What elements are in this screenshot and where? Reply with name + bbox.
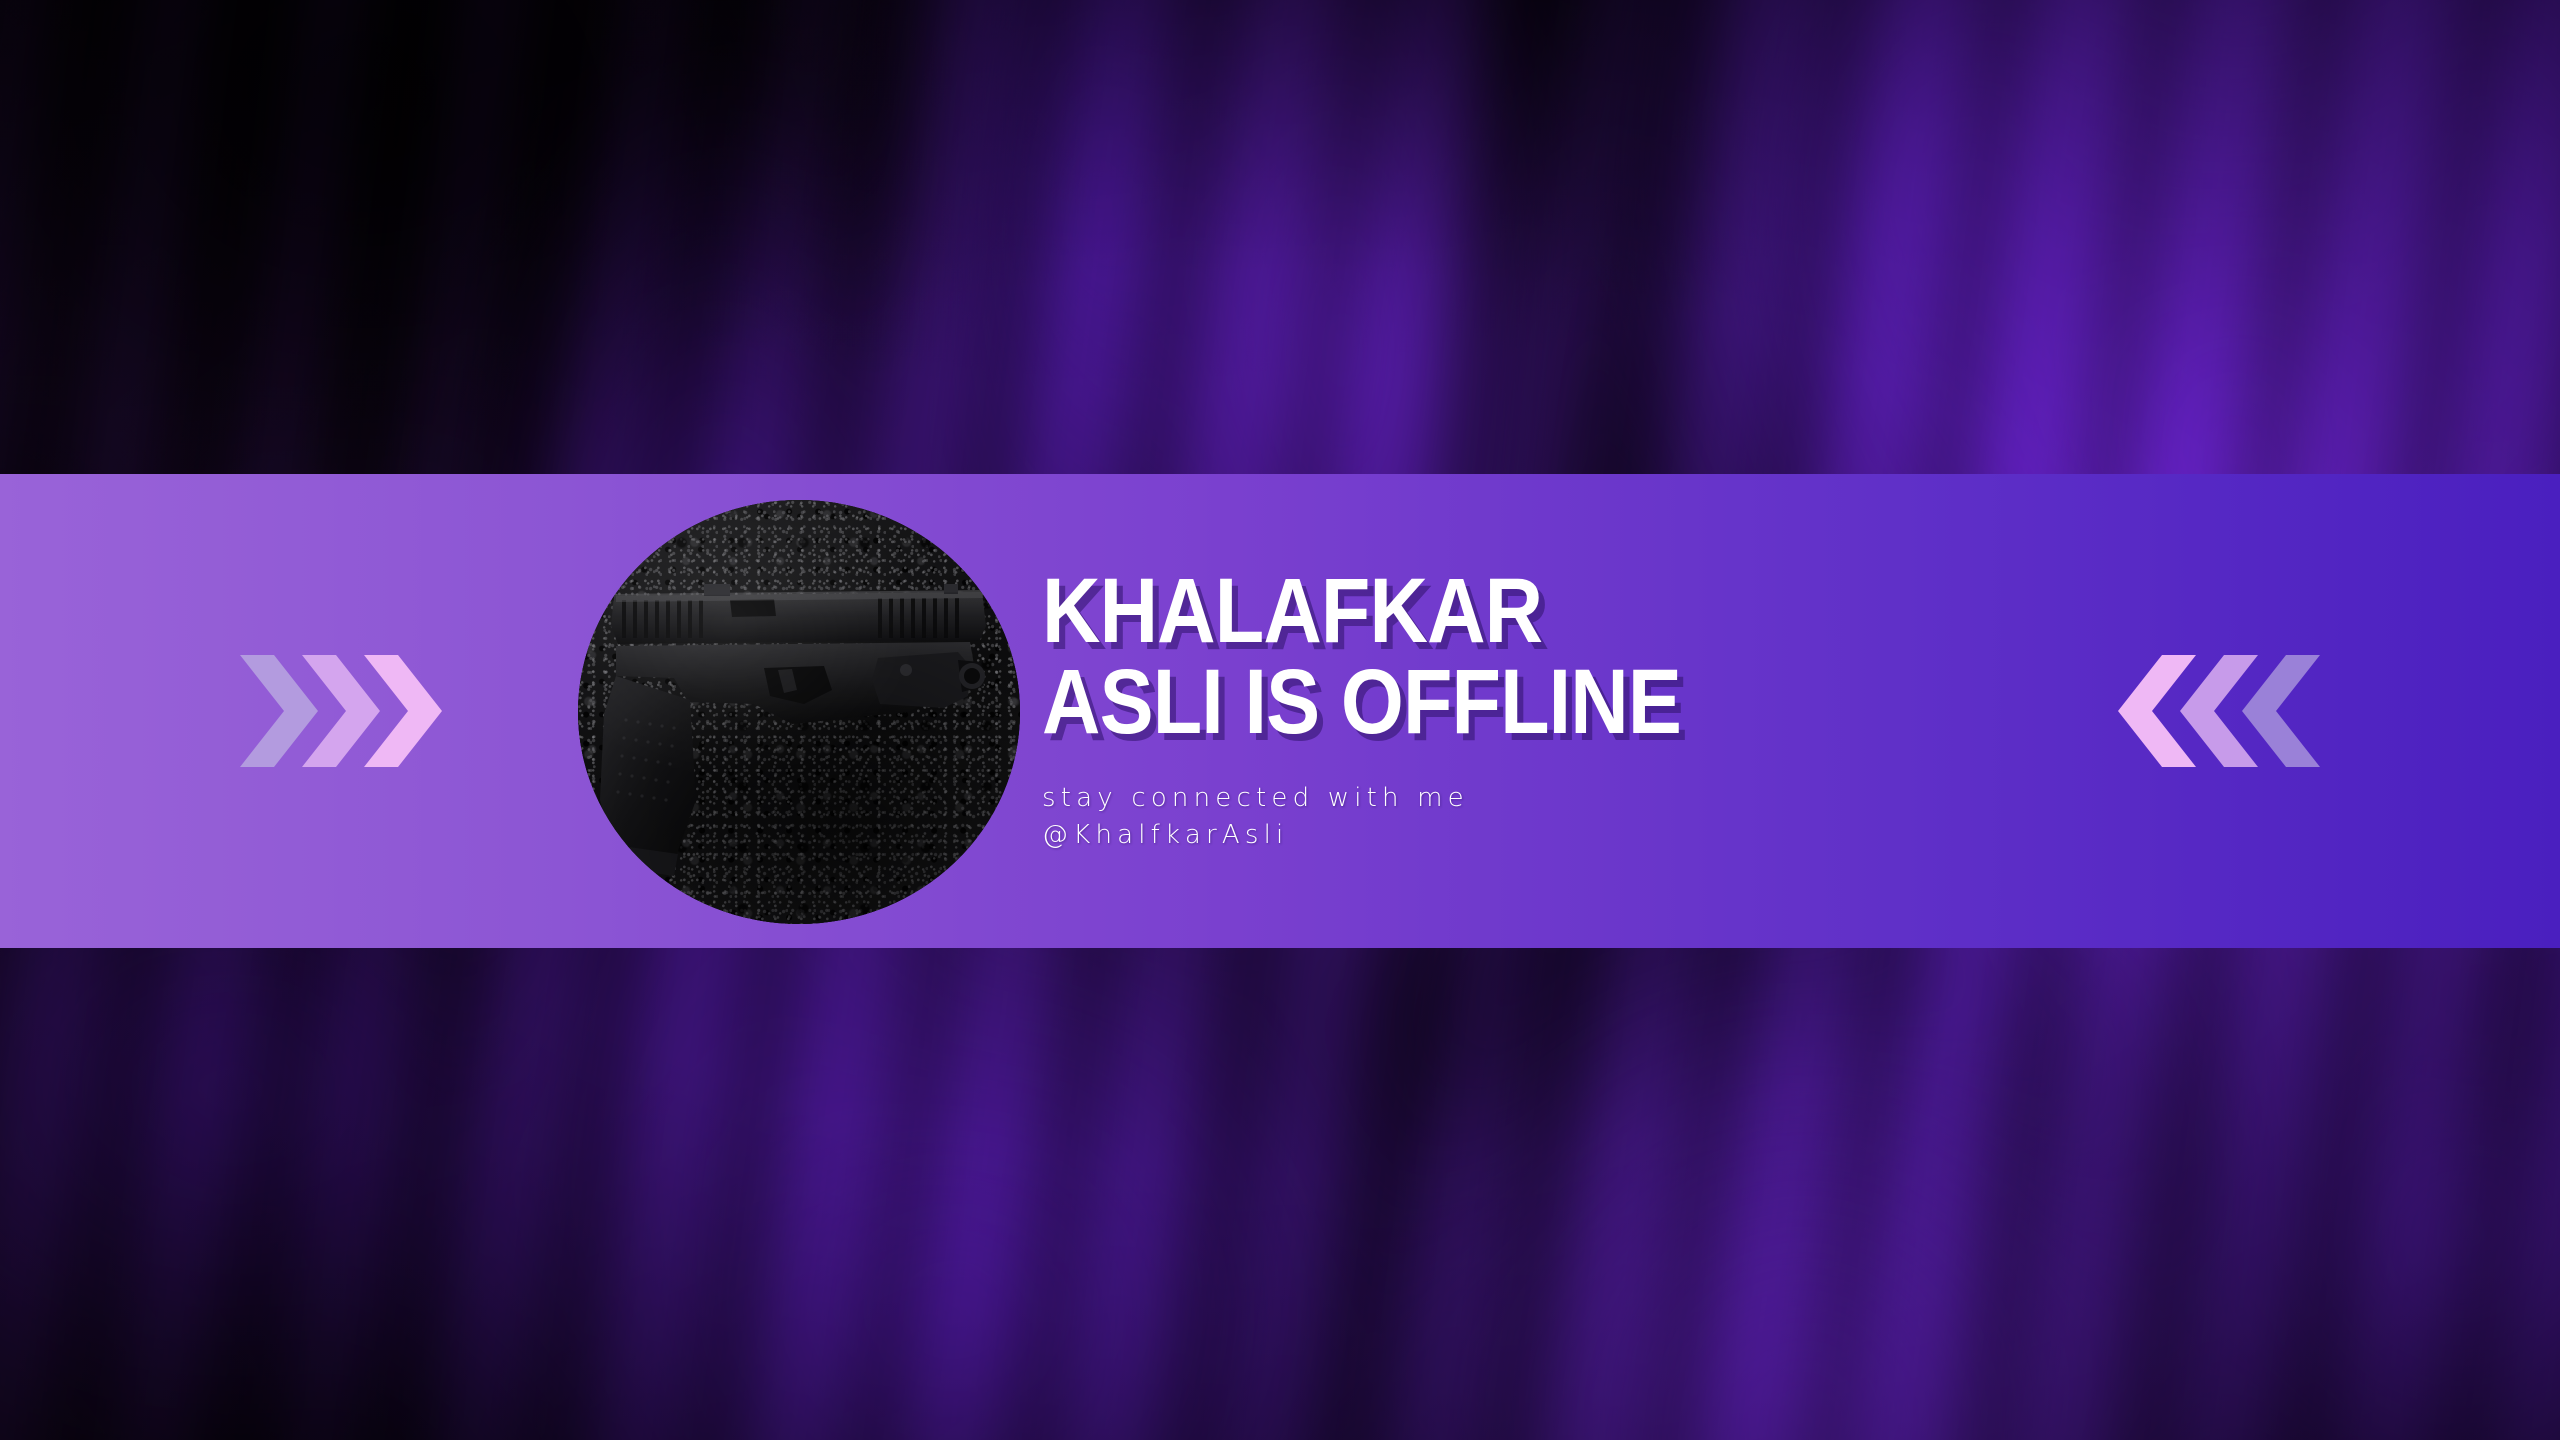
- tagline-line-1: stay connected with me: [1042, 780, 1768, 817]
- avatar: [578, 500, 1020, 924]
- chevron-left-icon-3: [2242, 655, 2320, 767]
- avatar-shading: [578, 500, 1020, 924]
- banner-text-block: KHALAFKAR ASLI IS OFFLINE stay connected…: [1042, 474, 1768, 948]
- headline-line-2: ASLI IS OFFLINE: [1042, 660, 1681, 746]
- headline-line-1: KHALAFKAR: [1042, 569, 1681, 655]
- tagline-block: stay connected with me @KhalfkarAsli: [1042, 780, 1768, 854]
- chevron-group-right: [2118, 655, 2320, 767]
- chevron-right-icon-3: [364, 655, 442, 767]
- tagline-handle: @KhalfkarAsli: [1042, 817, 1768, 854]
- banner-canvas: KHALAFKAR ASLI IS OFFLINE stay connected…: [0, 0, 2560, 1440]
- chevron-group-left: [240, 655, 442, 767]
- offline-banner-strip: KHALAFKAR ASLI IS OFFLINE stay connected…: [0, 474, 2560, 948]
